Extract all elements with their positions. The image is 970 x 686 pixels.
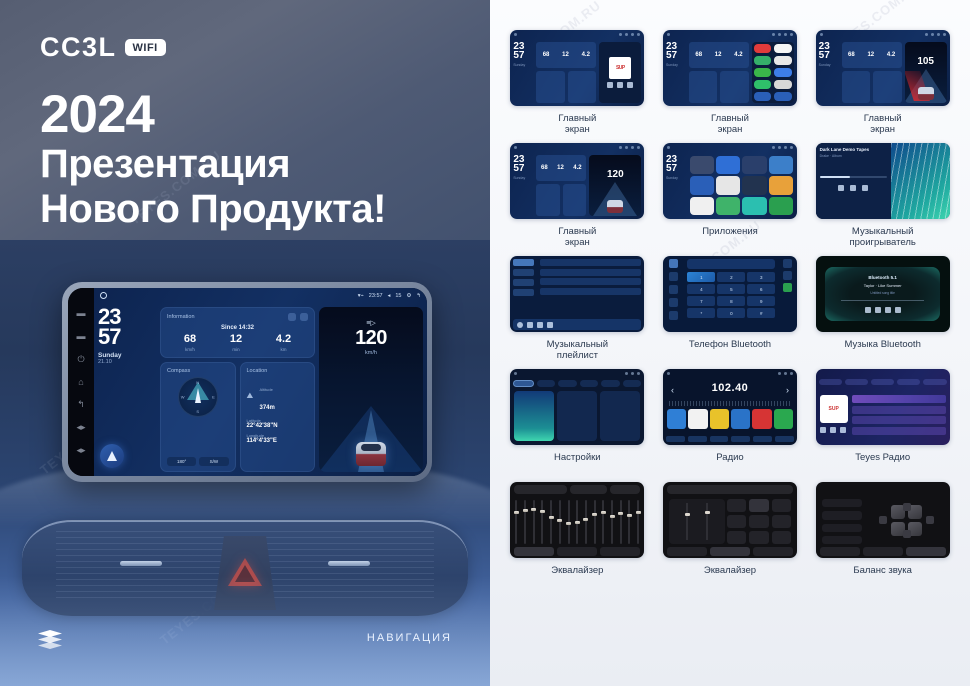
list-item[interactable] [540, 259, 641, 266]
status-time: 23:57 [369, 293, 383, 299]
thumb-music-player[interactable]: Dark Lane Demo Tapes Drake · Album [816, 143, 950, 219]
clock-minutes: 57 [513, 51, 533, 60]
grid-cell[interactable]: Баланс звука [809, 482, 956, 591]
headline-year: 2024 [40, 88, 386, 142]
tab-car[interactable] [601, 380, 620, 387]
speed-value: 120 [319, 327, 423, 350]
clock-day: Sunday [513, 63, 533, 67]
app-icon[interactable] [774, 92, 792, 101]
road-view-widget[interactable]: ≡▷ 120 km/h [319, 307, 423, 472]
app-icon[interactable] [774, 80, 792, 89]
menu-icon[interactable]: ▬ [76, 308, 87, 319]
app-icon[interactable] [774, 56, 792, 65]
grid-cell[interactable]: 23 57 Sunday 68 12 4.2 [657, 30, 804, 139]
settings-icon[interactable] [669, 311, 678, 320]
app-icon[interactable] [769, 156, 793, 174]
key-6[interactable]: 6 [747, 284, 775, 294]
app-shortcuts[interactable] [752, 42, 794, 103]
status-bar [510, 30, 644, 39]
app-icon[interactable] [742, 197, 766, 215]
app-icon[interactable] [716, 197, 740, 215]
tab-balance[interactable] [600, 547, 640, 556]
eq-band [594, 500, 596, 544]
tab-favorites[interactable] [871, 379, 894, 385]
rds-button[interactable] [753, 436, 772, 442]
home-icon[interactable]: ⌂ [76, 377, 87, 388]
altitude-row: ⛰ Altitude 374m [247, 378, 309, 414]
thumb-teyes-radio[interactable]: SUP [816, 369, 950, 445]
card-actions[interactable] [288, 313, 308, 321]
preset-list[interactable] [667, 409, 793, 429]
track-title: Taylor · Like Summer [864, 283, 902, 288]
next-icon[interactable] [862, 185, 868, 191]
back-icon[interactable]: ↰ [76, 399, 87, 410]
car-model [918, 87, 934, 100]
thumb-radio[interactable]: ‹ › 102.40 [663, 369, 797, 445]
list-item[interactable] [540, 288, 641, 295]
compass-card[interactable]: Compass N S E W [160, 362, 236, 472]
thumb-caption: Баланс звука [853, 565, 912, 591]
sidebar-item-artists[interactable] [513, 269, 534, 276]
sidebar-item-folders[interactable] [513, 289, 534, 296]
play-icon[interactable] [617, 82, 623, 88]
information-card[interactable]: 68 12 4.2 [842, 42, 902, 68]
next-icon[interactable] [627, 82, 633, 88]
search-icon[interactable] [669, 285, 678, 294]
media-widget[interactable]: SUP [599, 42, 641, 103]
preset-station[interactable] [710, 409, 729, 429]
grid-cell[interactable]: Настройки [504, 369, 651, 478]
phone-number-field[interactable] [687, 259, 775, 269]
grid-cell[interactable]: ‹ › 102.40 [657, 369, 804, 478]
preset-bass[interactable] [772, 531, 791, 544]
mini-player-bar[interactable] [513, 319, 641, 330]
location-card[interactable] [720, 71, 749, 103]
status-bar [510, 369, 644, 378]
headlight-icon: ≡▷ [366, 319, 375, 327]
app-icon[interactable] [769, 176, 793, 194]
dialpad-icon[interactable] [669, 259, 678, 268]
tab-eq[interactable] [820, 547, 860, 556]
preset-label[interactable] [514, 485, 567, 494]
app-icon[interactable] [769, 197, 793, 215]
album-art: SUP [820, 395, 848, 423]
station-list[interactable] [852, 395, 946, 441]
grid-cell[interactable]: Эквалайзер [504, 482, 651, 591]
preset-station[interactable] [774, 409, 793, 429]
list-item[interactable] [540, 278, 641, 285]
compass-needle [195, 388, 201, 403]
preset-pop[interactable] [727, 499, 746, 512]
track-title: Dark Lane Demo Tapes [820, 147, 887, 152]
status-bar [663, 30, 797, 39]
thumb-body: 23 57 Sunday 68 12 4.2 [510, 152, 644, 219]
settings-button[interactable] [775, 436, 794, 442]
vent-slider-right[interactable] [328, 561, 370, 566]
eq-button[interactable] [731, 436, 750, 442]
thumb-caption: Настройки [554, 452, 601, 478]
home-icon[interactable] [100, 292, 107, 299]
gear-icon[interactable]: ⚙ [406, 293, 411, 299]
prev-icon[interactable] [527, 322, 533, 328]
page-title: 2024 Презентация Нового Продукта! [40, 88, 386, 232]
grid-cell[interactable]: 23 57 Sunday 68 12 4.2 [504, 30, 651, 139]
key-1[interactable]: 1 [687, 272, 715, 282]
location-card[interactable] [563, 184, 587, 216]
widgets: 68 12 4.2 [842, 42, 902, 103]
thumb-bluetooth-music[interactable]: Bluetooth 5.1 Taylor · Like Summer Untit… [816, 256, 950, 332]
expand-icon[interactable] [300, 313, 308, 321]
eq-band [524, 500, 526, 544]
visualizer [891, 143, 950, 219]
eq-band [628, 500, 630, 544]
bass-treble-sliders[interactable] [669, 499, 725, 544]
dialer-main[interactable]: 1 2 3 4 5 6 7 8 9 * 0 # [684, 256, 778, 332]
widgets: 68 12 4.2 [689, 42, 749, 103]
call-icon[interactable] [783, 283, 792, 292]
app-icon[interactable] [690, 197, 714, 215]
eq-toolbar[interactable] [514, 547, 640, 556]
application-grid[interactable] [689, 155, 794, 216]
product-logo: CC3L WIFI [40, 32, 166, 63]
band-button[interactable] [666, 436, 685, 442]
widgets: 68 12 4.2 [536, 155, 586, 216]
progress-bar[interactable] [820, 176, 887, 178]
prev-icon[interactable] [820, 427, 826, 433]
stat-item: 4.2 km [276, 334, 291, 352]
prev-icon[interactable] [607, 82, 613, 88]
balance-up-button[interactable] [903, 503, 911, 511]
compass-dial: N S E W [178, 377, 218, 417]
eq-band [541, 500, 543, 544]
tab-system[interactable] [623, 380, 642, 387]
preset-custom[interactable] [727, 531, 746, 544]
widget-row: Compass N S E W [160, 362, 315, 472]
thumb-body: 23 57 Sunday [663, 152, 797, 219]
thumb-home-screen-apps[interactable]: 23 57 Sunday 68 12 4.2 [663, 30, 797, 106]
player-controls[interactable] [820, 185, 887, 191]
location-card[interactable]: Location ⛰ Altitude 374m [240, 362, 316, 472]
tab-search[interactable] [923, 379, 946, 385]
thumb-home-screen-media[interactable]: 23 57 Sunday 68 12 4.2 [510, 30, 644, 106]
preset-rock[interactable] [749, 499, 768, 512]
thumb-home-screen-road2[interactable]: 23 57 Sunday 68 12 4.2 [510, 143, 644, 219]
compass-card[interactable] [689, 71, 718, 103]
thumbnail-grid: 23 57 Sunday 68 12 4.2 [504, 30, 956, 591]
mountain-icon: ⛰ [247, 392, 256, 401]
settings-cards[interactable] [514, 391, 640, 441]
media-controls[interactable] [607, 82, 633, 88]
thumb-body: 23 57 Sunday 68 12 4.2 [663, 39, 797, 106]
navigation-button[interactable] [100, 444, 124, 468]
tab-sound-field[interactable] [710, 547, 750, 556]
hardware-button-rail[interactable]: ▬ ▬ ⏻ ⌂ ↰ ◂▸ ◂▸ [68, 288, 94, 476]
stat-unit: min [230, 347, 242, 352]
key-9[interactable]: 9 [747, 296, 775, 306]
latitude-value: 22°42'38"N [247, 423, 309, 429]
location-card[interactable] [568, 71, 597, 103]
key-2[interactable]: 2 [717, 272, 745, 282]
thumb-equalizer-2[interactable] [663, 482, 797, 558]
location-card[interactable] [873, 71, 902, 103]
key-0[interactable]: 0 [717, 308, 745, 318]
treble-slider[interactable] [706, 503, 708, 540]
pause-icon[interactable] [850, 185, 856, 191]
balance-header [820, 485, 946, 494]
eq-toolbar[interactable] [667, 547, 793, 556]
next-icon[interactable] [895, 307, 901, 313]
sidebar-item-albums[interactable] [513, 279, 534, 286]
play-pause-icon[interactable] [875, 307, 881, 313]
grid-cell[interactable]: Эквалайзер [657, 482, 804, 591]
list-item[interactable] [852, 416, 946, 424]
back-icon[interactable]: ↰ [416, 293, 421, 299]
wifi-icon[interactable] [514, 391, 554, 441]
grid-cell[interactable]: 23 57 Sunday [657, 143, 804, 252]
thumb-caption: Главныйэкран [864, 113, 902, 139]
compass-card[interactable] [536, 71, 565, 103]
power-icon[interactable]: ⏻ [76, 354, 87, 365]
bottom-glow [0, 576, 490, 686]
thumb-caption: Музыкальныйплейлист [547, 339, 608, 365]
longitude-value: 114°4'33"E [247, 438, 309, 444]
key-8[interactable]: 8 [717, 296, 745, 306]
app-icon[interactable] [690, 156, 714, 174]
contacts-icon[interactable] [669, 272, 678, 281]
list-item[interactable] [852, 427, 946, 435]
key-7[interactable]: 7 [687, 296, 715, 306]
compass-e: E [212, 395, 215, 400]
next-icon[interactable] [547, 322, 553, 328]
app-icon[interactable] [754, 56, 772, 65]
app-icon[interactable] [716, 156, 740, 174]
list-item[interactable] [540, 269, 641, 276]
progress-bar[interactable] [841, 300, 924, 301]
thumb-home-screen-road[interactable]: 23 57 Sunday 68 12 4.2 [816, 30, 950, 106]
stat-item: 12 min [230, 334, 242, 352]
preset-station[interactable] [731, 409, 750, 429]
tab-eq[interactable] [514, 547, 554, 556]
carplay-icon[interactable] [557, 391, 597, 441]
left-value [822, 524, 862, 532]
volume-down-icon[interactable]: ◂▸ [76, 445, 87, 456]
balance-left-button[interactable] [879, 516, 887, 524]
eq-toolbar[interactable] [820, 547, 946, 556]
tab-sound-field[interactable] [863, 547, 903, 556]
tab-general[interactable] [580, 380, 599, 387]
app-icon[interactable] [690, 176, 714, 194]
tab-eq[interactable] [667, 547, 707, 556]
radio-toolbar[interactable] [666, 434, 794, 443]
layers-icon [38, 630, 62, 650]
refresh-icon[interactable] [288, 313, 296, 321]
bass-slider[interactable] [686, 503, 688, 540]
volume-up-icon[interactable]: ◂▸ [76, 422, 87, 433]
prev-icon[interactable] [865, 307, 871, 313]
headline-line1: Презентация [40, 142, 386, 187]
app-icon[interactable] [754, 68, 772, 77]
key-star[interactable]: * [687, 308, 715, 318]
player-info: Dark Lane Demo Tapes Drake · Album [816, 143, 891, 219]
stat-item: 68 km/h [184, 334, 196, 352]
right-value [822, 536, 862, 544]
reset-button[interactable] [610, 485, 640, 494]
app-icon[interactable] [774, 68, 792, 77]
pause-icon[interactable] [537, 322, 543, 328]
information-title: Information [167, 314, 195, 320]
preset-jazz[interactable] [772, 499, 791, 512]
tab-sound-field[interactable] [557, 547, 597, 556]
compass-direction: S/W [199, 457, 228, 466]
eq-band-sliders[interactable] [515, 500, 639, 544]
compass-readouts: 180° S/W [167, 457, 229, 466]
app-icon[interactable] [754, 44, 772, 53]
tab-balance[interactable] [753, 547, 793, 556]
call-history-icon[interactable] [669, 298, 678, 307]
tab-sound[interactable] [537, 380, 556, 387]
balance-down-button[interactable] [903, 530, 911, 538]
radio-frequency: 102.40 [663, 382, 797, 394]
app-icon[interactable] [774, 44, 792, 53]
volume-icon: ◂ [388, 293, 391, 299]
stop-icon[interactable] [885, 307, 891, 313]
dialer-actions[interactable] [778, 256, 797, 332]
status-bar [663, 369, 797, 378]
app-icon[interactable] [716, 176, 740, 194]
head-unit-screen[interactable]: ▾⌁ 23:57 ◂ 15 ⚙ ↰ 23 57 Sunday [94, 288, 427, 476]
head-unit-bezel: ▬ ▬ ⏻ ⌂ ↰ ◂▸ ◂▸ ▾⌁ 23:57 ◂ 1 [68, 288, 427, 476]
balance-right-button[interactable] [926, 516, 934, 524]
navigation-label: НАВИГАЦИЯ [367, 632, 452, 644]
tab-recent[interactable] [897, 379, 920, 385]
preset-station[interactable] [667, 409, 686, 429]
vent-slider-left[interactable] [120, 561, 162, 566]
head-unit-device: ▬ ▬ ⏻ ⌂ ↰ ◂▸ ◂▸ ▾⌁ 23:57 ◂ 1 [62, 282, 432, 482]
balance-readouts [822, 499, 862, 544]
preset-button[interactable] [570, 485, 608, 494]
speed-value: 105 [905, 56, 947, 67]
grid-cell[interactable]: Bluetooth 5.1 Taylor · Like Summer Untit… [809, 256, 956, 365]
thumb-bluetooth-phone[interactable]: 1 2 3 4 5 6 7 8 9 * 0 # [663, 256, 797, 332]
grid-cell[interactable]: Музыкальныйплейлист [504, 256, 651, 365]
key-3[interactable]: 3 [747, 272, 775, 282]
next-icon[interactable] [840, 427, 846, 433]
eq-band [568, 500, 570, 544]
key-5[interactable]: 5 [717, 284, 745, 294]
sidebar-item-tracks[interactable] [513, 259, 534, 266]
list-item[interactable] [852, 395, 946, 403]
app-icon[interactable] [754, 80, 772, 89]
app-icon[interactable] [754, 92, 772, 101]
more-icon[interactable] [600, 391, 640, 441]
keypad[interactable]: 1 2 3 4 5 6 7 8 9 * 0 # [687, 272, 775, 318]
key-4[interactable]: 4 [687, 284, 715, 294]
preset-dance[interactable] [772, 515, 791, 528]
stat-unit: km/h [184, 347, 196, 352]
stop-icon[interactable] [830, 427, 836, 433]
clock-block: 23 57 Sunday [666, 155, 686, 216]
prev-icon[interactable] [838, 185, 844, 191]
player-controls[interactable] [865, 307, 901, 313]
preset-vocal[interactable] [749, 515, 768, 528]
thumb-equalizer[interactable] [510, 482, 644, 558]
longitude-row: Longitude 114°4'33"E [247, 433, 309, 444]
balance-pad[interactable] [872, 496, 942, 544]
status-right: ▾⌁ 23:57 ◂ 15 ⚙ ↰ [358, 293, 421, 299]
player-controls[interactable] [820, 427, 848, 433]
thumb-applications[interactable]: 23 57 Sunday [663, 143, 797, 219]
road-view-widget[interactable]: 120 [589, 155, 641, 216]
eq-band [602, 500, 604, 544]
tab-wifi[interactable] [513, 380, 534, 387]
grid-cell[interactable]: 23 57 Sunday 68 12 4.2 [809, 30, 956, 139]
clock-block: 23 57 Sunday [666, 42, 686, 103]
thumb-music-playlist[interactable] [510, 256, 644, 332]
clock-block: 23 57 Sunday [513, 155, 533, 216]
information-card[interactable]: 68 12 4.2 [689, 42, 749, 68]
compass-card[interactable] [536, 184, 560, 216]
preset-grid[interactable] [727, 499, 791, 544]
preset-classic[interactable] [727, 515, 746, 528]
teyes-tabs[interactable] [819, 379, 947, 385]
list-button[interactable] [710, 436, 729, 442]
thumb-caption: Музыка Bluetooth [844, 339, 920, 365]
grid-cell[interactable]: 1 2 3 4 5 6 7 8 9 * 0 # [657, 256, 804, 365]
favorite-icon[interactable] [783, 259, 792, 268]
tab-genres[interactable] [845, 379, 868, 385]
status-bar [663, 143, 797, 152]
preset-flat[interactable] [749, 531, 768, 544]
settings-tabs[interactable] [513, 380, 641, 387]
thumb-sound-balance[interactable] [816, 482, 950, 558]
information-card[interactable]: 68 12 4.2 [536, 42, 596, 68]
tab-all[interactable] [819, 379, 842, 385]
grid-cell[interactable]: SUP Tey [809, 369, 956, 478]
scan-button[interactable] [688, 436, 707, 442]
stat-value: 68 [184, 334, 196, 345]
information-card[interactable]: 68 12 4.2 [536, 155, 586, 181]
teyes-body: SUP [820, 395, 946, 441]
road-view-widget[interactable]: 105 [905, 42, 947, 103]
information-card[interactable]: Information Since 14:32 68 [160, 307, 315, 358]
compass-card[interactable] [842, 71, 871, 103]
app-icon[interactable] [742, 156, 766, 174]
grid-cell[interactable]: 23 57 Sunday 68 12 4.2 [504, 143, 651, 252]
thumb-settings[interactable] [510, 369, 644, 445]
rear-value [822, 511, 862, 519]
mute-icon[interactable]: ▬ [76, 331, 87, 342]
clock-widget[interactable]: 23 57 Sunday 21.10 [98, 307, 156, 472]
list-item[interactable] [852, 406, 946, 414]
preset-station[interactable] [752, 409, 771, 429]
tab-display[interactable] [558, 380, 577, 387]
key-hash[interactable]: # [747, 308, 775, 318]
tab-balance[interactable] [906, 547, 946, 556]
altitude-value: 374m [260, 405, 275, 411]
eq-band [611, 500, 613, 544]
speed-unit: km/h [319, 350, 423, 356]
frequency-scale[interactable] [669, 401, 791, 406]
grid-cell[interactable]: Dark Lane Demo Tapes Drake · Album Музык… [809, 143, 956, 252]
phone-sidebar[interactable] [663, 256, 684, 332]
preset-station[interactable] [688, 409, 707, 429]
stat-value: 4.2 [276, 334, 291, 345]
thumb-caption: Эквалайзер [551, 565, 603, 591]
backspace-icon[interactable] [783, 271, 792, 280]
since-label: Since 14:32 [167, 325, 308, 331]
eq-presets[interactable] [514, 485, 640, 494]
app-icon[interactable] [742, 176, 766, 194]
